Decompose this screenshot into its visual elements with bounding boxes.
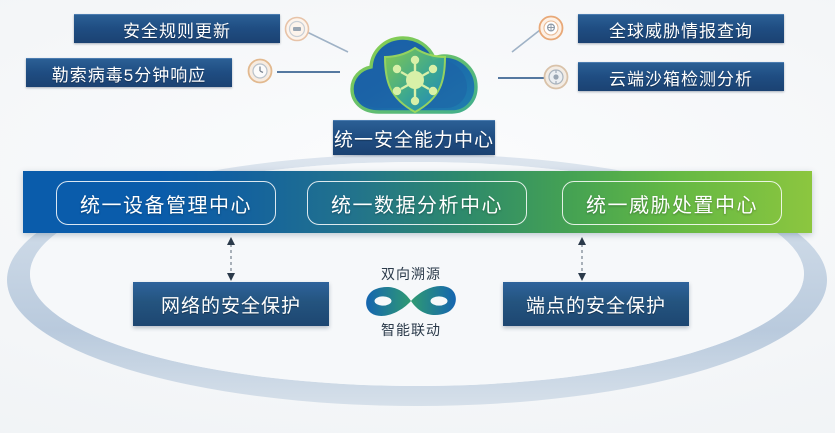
feature-chip-label: 云端沙箱检测分析 (609, 65, 753, 90)
diagram-canvas: 安全规则更新 勒索病毒5分钟响应 全球威胁情报查询 云端沙箱检测分析 统一安全能… (0, 0, 835, 433)
center-title-banner: 统一安全能力中心 (333, 120, 495, 155)
cloud-shield-network-icon (349, 28, 481, 124)
bidirectional-arrow-right (575, 236, 589, 282)
infinity-loop-icon (361, 283, 461, 319)
capability-label: 统一设备管理中心 (80, 189, 252, 218)
feature-chip-threat-intel[interactable]: 全球威胁情报查询 (578, 14, 784, 43)
protection-box-endpoint[interactable]: 端点的安全保护 (503, 282, 689, 326)
feature-chip-label: 勒索病毒5分钟响应 (52, 61, 206, 86)
capability-label: 统一数据分析中心 (331, 189, 503, 218)
feature-chip-ransomware[interactable]: 勒索病毒5分钟响应 (26, 58, 232, 87)
linkage-top-label: 双向溯源 (358, 264, 464, 284)
capability-threat-handling[interactable]: 统一威胁处置中心 (562, 181, 782, 225)
globe-badge-icon (538, 15, 564, 41)
feature-chip-label: 安全规则更新 (123, 17, 231, 42)
bidirectional-arrow-left (224, 236, 238, 282)
magnifier-badge-icon (284, 16, 310, 42)
linkage-bottom-label: 智能联动 (358, 320, 464, 340)
capability-label: 统一威胁处置中心 (586, 189, 758, 218)
capability-bar: 统一设备管理中心 统一数据分析中心 统一威胁处置中心 (23, 171, 812, 233)
capability-device-management[interactable]: 统一设备管理中心 (56, 181, 276, 225)
capability-data-analysis[interactable]: 统一数据分析中心 (307, 181, 527, 225)
protection-label: 端点的安全保护 (526, 291, 666, 318)
protection-label: 网络的安全保护 (161, 291, 301, 318)
sandbox-badge-icon (543, 64, 569, 90)
protection-box-network[interactable]: 网络的安全保护 (133, 282, 329, 326)
feature-chip-label: 全球威胁情报查询 (609, 17, 753, 42)
clock-badge-icon (247, 58, 273, 84)
center-title-label: 统一安全能力中心 (334, 125, 494, 152)
feature-chip-cloud-sandbox[interactable]: 云端沙箱检测分析 (578, 62, 784, 91)
feature-chip-rule-update[interactable]: 安全规则更新 (74, 14, 280, 43)
